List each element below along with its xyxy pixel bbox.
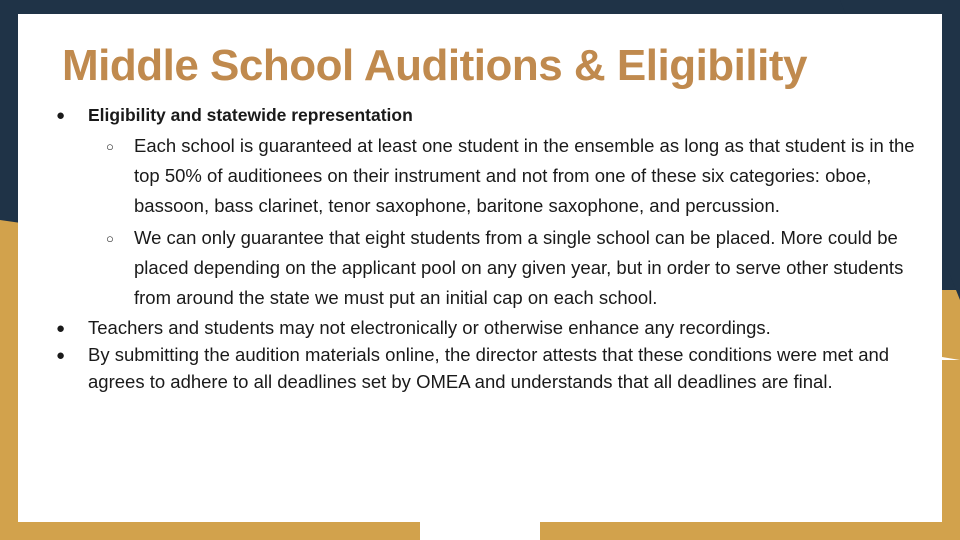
- list-item: ○ We can only guarantee that eight stude…: [88, 223, 934, 313]
- bullet-marker-icon: ●: [56, 315, 65, 342]
- list-item: ○ Each school is guaranteed at least one…: [88, 131, 934, 221]
- bullet-marker-icon: ○: [106, 223, 114, 254]
- bullet-marker-icon: ●: [56, 342, 65, 369]
- list-item-text: By submitting the audition materials onl…: [88, 342, 934, 395]
- list-item-text: Eligibility and statewide representation: [88, 102, 934, 129]
- slide-body: ● Eligibility and statewide representati…: [34, 102, 934, 396]
- list-item-text: Teachers and students may not electronic…: [88, 315, 934, 342]
- bullet-list-level1: ● Eligibility and statewide representati…: [34, 102, 934, 395]
- list-item: ● Teachers and students may not electron…: [34, 315, 934, 342]
- slide: Middle School Auditions & Eligibility ● …: [0, 0, 960, 540]
- bullet-marker-icon: ●: [56, 102, 65, 129]
- list-item-text: Each school is guaranteed at least one s…: [134, 131, 934, 221]
- list-item-text: We can only guarantee that eight student…: [134, 223, 934, 313]
- slide-card: Middle School Auditions & Eligibility ● …: [18, 14, 942, 522]
- bullet-marker-icon: ○: [106, 131, 114, 162]
- list-item: ● By submitting the audition materials o…: [34, 342, 934, 395]
- page-title: Middle School Auditions & Eligibility: [62, 40, 922, 92]
- list-item: ● Eligibility and statewide representati…: [34, 102, 934, 313]
- bullet-list-level2: ○ Each school is guaranteed at least one…: [88, 131, 934, 313]
